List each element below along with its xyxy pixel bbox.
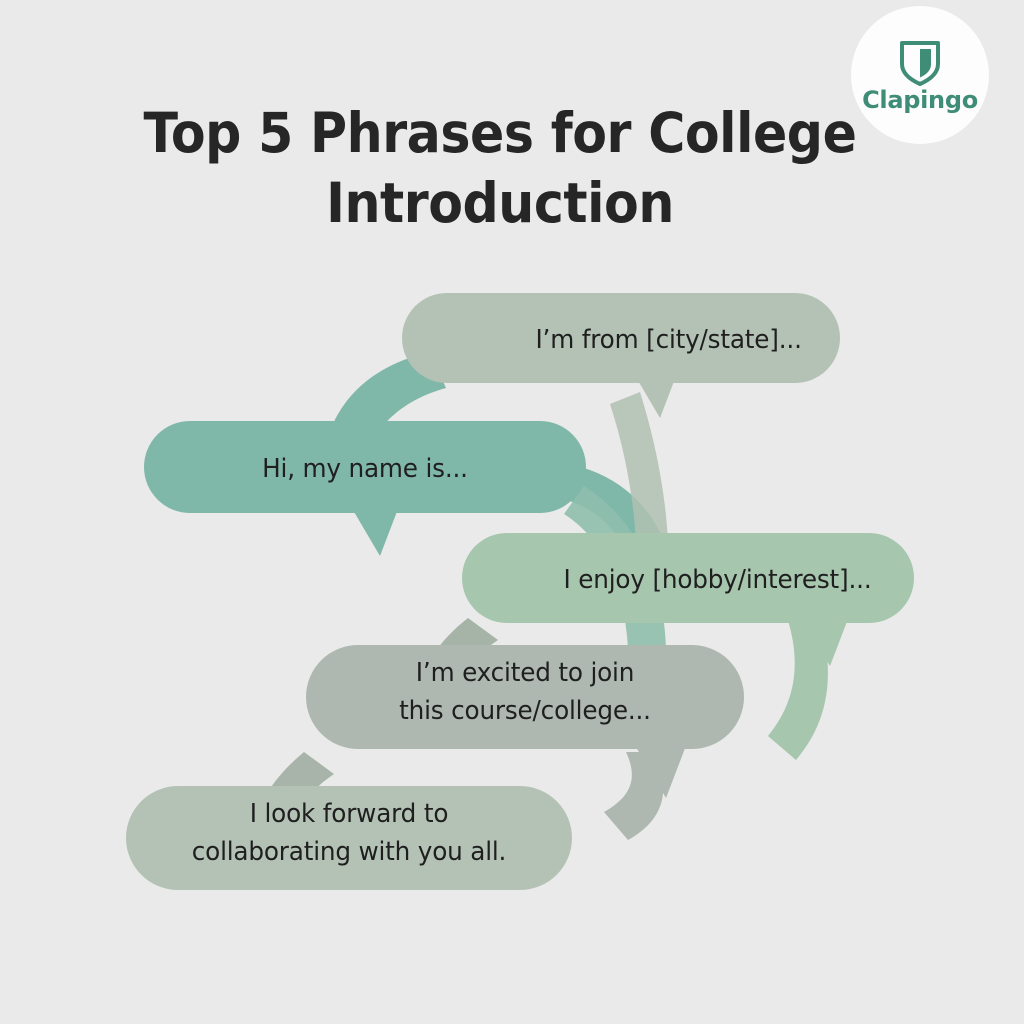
phrase-label-2: Hi, my name is... — [155, 451, 575, 489]
phrase-flow-diagram: I’m from [city/state]... Hi, my name is.… — [0, 0, 1024, 1024]
phrase-label-1: I’m from [city/state]... — [412, 322, 802, 360]
phrase-label-4: I’m excited to join this course/college.… — [317, 655, 733, 730]
phrase-label-5: I look forward to collaborating with you… — [137, 796, 561, 871]
phrase-label-3: I enjoy [hobby/interest]... — [473, 562, 872, 600]
infographic-canvas: Top 5 Phrases for College Introduction C… — [0, 0, 1024, 1024]
